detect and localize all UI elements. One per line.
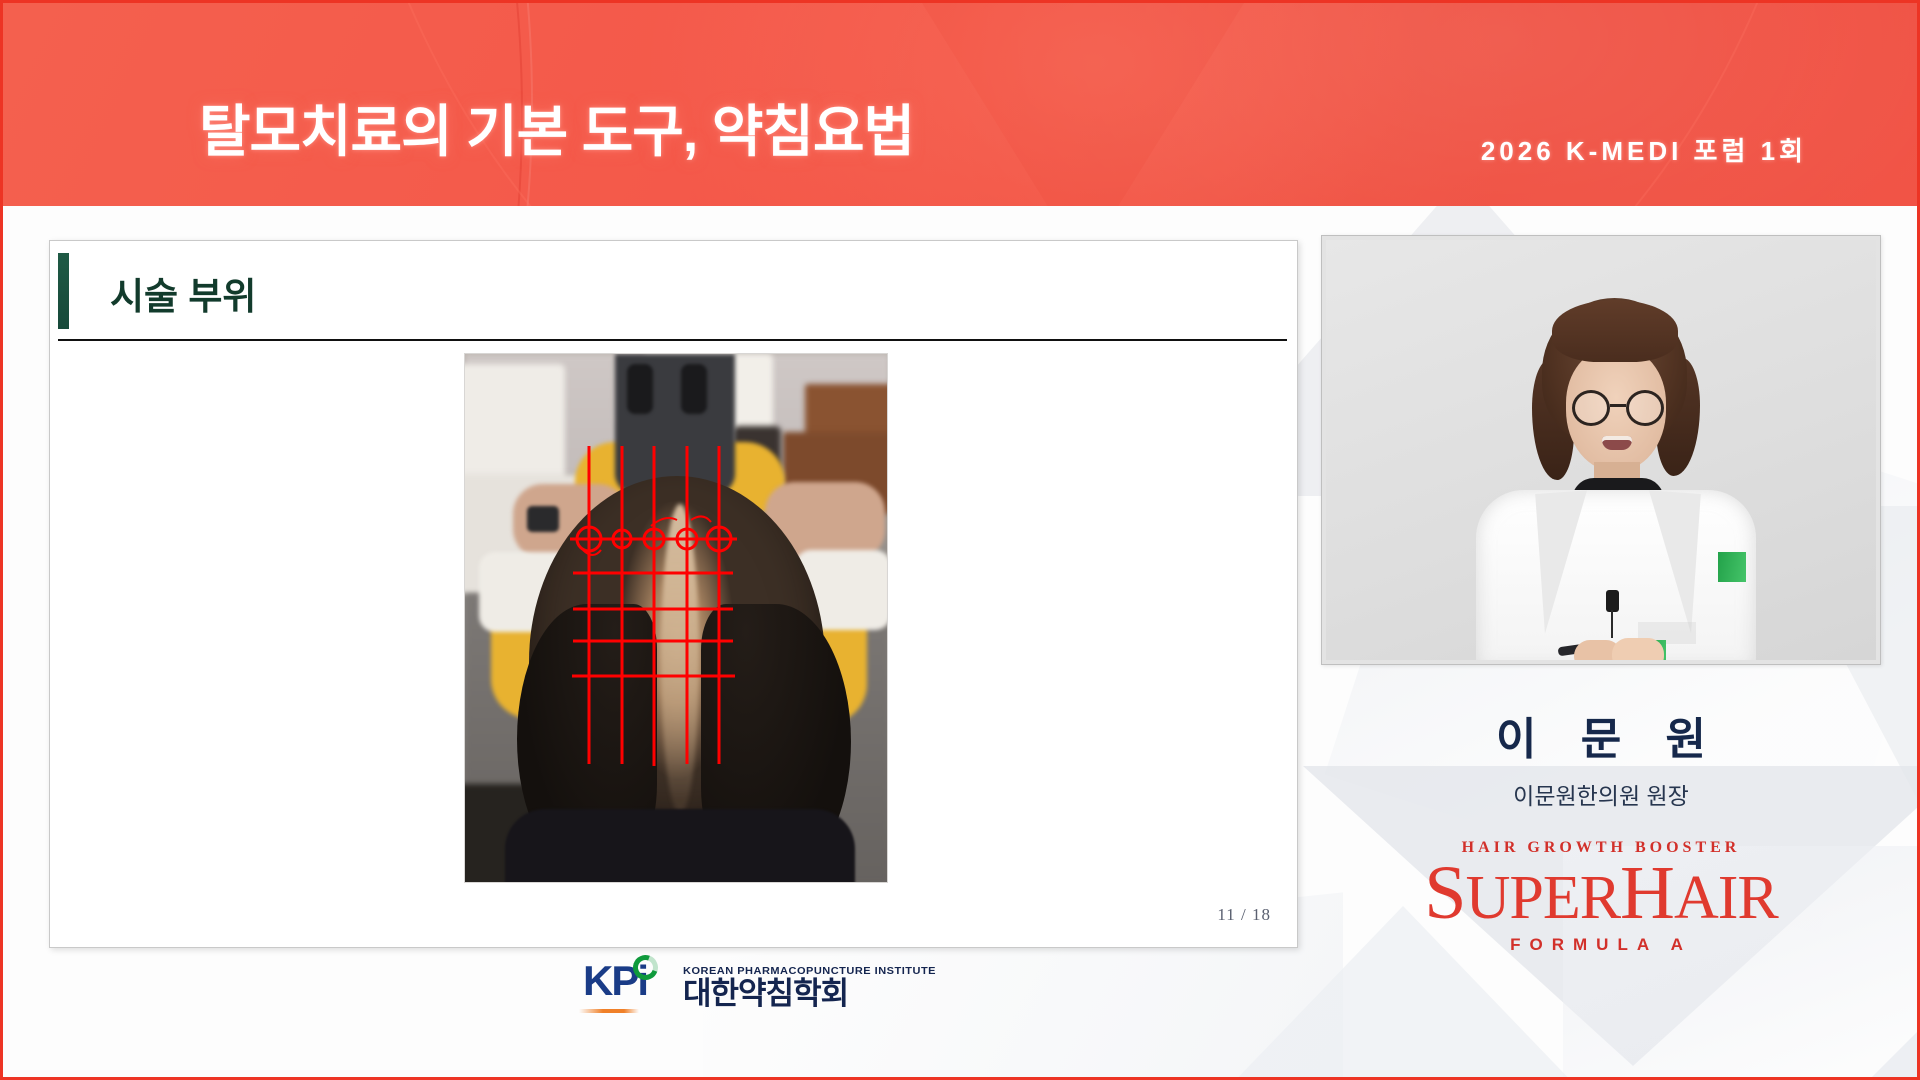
speaker-fringe — [1552, 300, 1678, 362]
slide-title-row: 시술 부위 — [58, 249, 1287, 341]
speaker-video-panel[interactable] — [1321, 235, 1881, 665]
speaker-glasses-left-lens — [1572, 390, 1610, 426]
speaker-name: 이 문 원 — [1321, 703, 1881, 767]
kpi-logo-text: KOREAN PHARMACOPUNCTURE INSTITUTE 대한약침학회 — [683, 965, 936, 1011]
speaker-microphone-wire — [1611, 610, 1613, 638]
superhair-brand: SUPERHAIR — [1321, 855, 1881, 933]
speaker-lab-coat — [1476, 490, 1756, 660]
bg-polygon-8 — [1693, 1026, 1917, 1077]
kpi-english-name: KOREAN PHARMACOPUNCTURE INSTITUTE — [683, 966, 936, 977]
kpi-logo: KPi KOREAN PHARMACOPUNCTURE INSTITUTE 대한… — [583, 955, 936, 1011]
slide-card: 시술 부위 — [49, 240, 1298, 948]
superhair-brand-air: AIR — [1674, 864, 1778, 932]
speaker-coat-lapel-right — [1639, 490, 1701, 633]
kpi-korean-name: 대한약침학회 — [683, 978, 936, 1009]
speaker-role: 이문원한의원 원장 — [1321, 777, 1881, 811]
section-accent-bar — [58, 253, 69, 329]
speaker-coat-lapel-left — [1535, 490, 1597, 633]
speaker-glasses-bridge — [1610, 404, 1626, 407]
speaker-mouth — [1602, 436, 1632, 450]
presentation-frame: 탈모치료의 기본 도구, 약침요법 2026 K-MEDI 포럼 1회 시술 부… — [0, 0, 1920, 1080]
speaker-glasses-right-lens — [1626, 390, 1664, 426]
superhair-logo: HAIR GROWTH BOOSTER SUPERHAIR FORMULA A — [1321, 839, 1881, 955]
superhair-tagline-bottom: FORMULA A — [1321, 935, 1881, 955]
kpi-logo-mark: KPi — [583, 955, 675, 1011]
superhair-brand-uper: UPER — [1466, 864, 1620, 932]
scalp-photo — [464, 353, 888, 883]
superhair-brand-h: H — [1620, 851, 1674, 935]
slide-section-title: 시술 부위 — [110, 266, 256, 320]
speaker-hand-right — [1612, 638, 1664, 660]
treatment-grid-overlay — [465, 354, 888, 883]
slide-page-number: 11 / 18 — [1217, 905, 1271, 925]
superhair-brand-s: S — [1424, 851, 1465, 935]
kpi-underline-decoration — [579, 1009, 639, 1013]
header-banner: 탈모치료의 기본 도구, 약침요법 2026 K-MEDI 포럼 1회 — [3, 3, 1917, 206]
speaker-coat-green-logo-1 — [1718, 552, 1746, 582]
page-title: 탈모치료의 기본 도구, 약침요법 — [199, 87, 914, 168]
speaker-lapel-microphone — [1606, 590, 1619, 612]
speaker-video-frame — [1326, 240, 1876, 660]
forum-subtitle: 2026 K-MEDI 포럼 1회 — [1481, 131, 1807, 168]
